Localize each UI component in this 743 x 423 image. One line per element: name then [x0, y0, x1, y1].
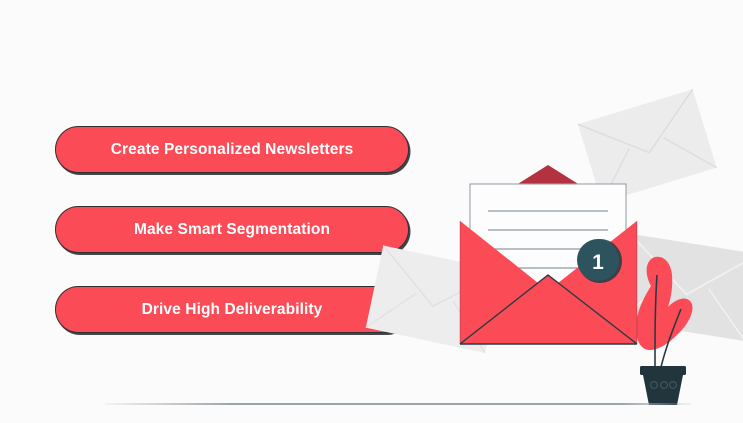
button-label: Make Smart Segmentation	[134, 222, 330, 238]
button-label: Create Personalized Newsletters	[111, 142, 354, 158]
badge-count: 1	[592, 251, 604, 274]
button-label: Drive High Deliverability	[142, 302, 323, 318]
email-illustration: 1	[355, 85, 743, 423]
illustration-canvas: Create Personalized Newsletters Make Sma…	[0, 0, 743, 423]
ground-line	[105, 403, 691, 405]
